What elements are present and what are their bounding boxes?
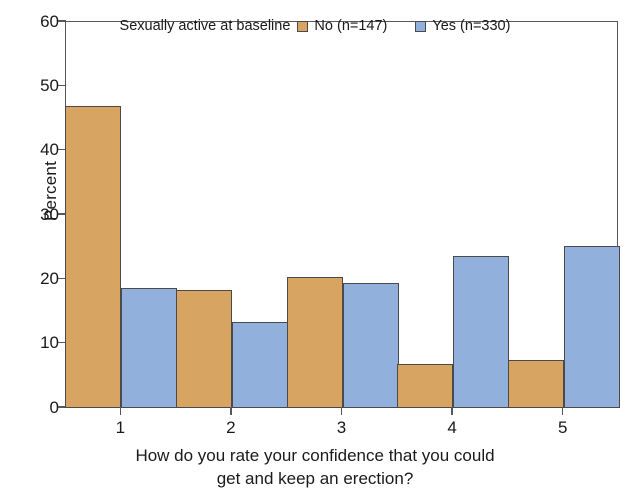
plot-area	[65, 21, 618, 407]
bar	[65, 106, 121, 408]
bar-chart-figure: Percent 0102030405060 12345 How do you r…	[0, 0, 630, 496]
bar	[564, 246, 620, 408]
x-axis-tick-label: 3	[322, 418, 362, 438]
x-axis-tick-mark	[120, 407, 122, 415]
x-axis-tick-mark	[230, 407, 232, 415]
x-axis-tick-label: 1	[100, 418, 140, 438]
bar	[397, 364, 453, 408]
bar	[287, 277, 343, 408]
bar	[453, 256, 509, 408]
bar	[508, 360, 564, 408]
x-axis-tick-label: 2	[211, 418, 251, 438]
x-axis-title-line1: How do you rate your confidence that you…	[0, 444, 630, 467]
x-axis-tick-label: 4	[432, 418, 472, 438]
bar	[176, 290, 232, 408]
bar	[343, 283, 399, 408]
bar	[121, 288, 177, 408]
x-axis-tick-mark	[562, 407, 564, 415]
x-axis-title: How do you rate your confidence that you…	[0, 444, 630, 490]
bar	[232, 322, 288, 408]
x-axis-tick-mark	[341, 407, 343, 415]
x-axis-tick-label: 5	[543, 418, 583, 438]
x-axis-tick-mark	[451, 407, 453, 415]
x-axis-title-line2: get and keep an erection?	[0, 467, 630, 490]
